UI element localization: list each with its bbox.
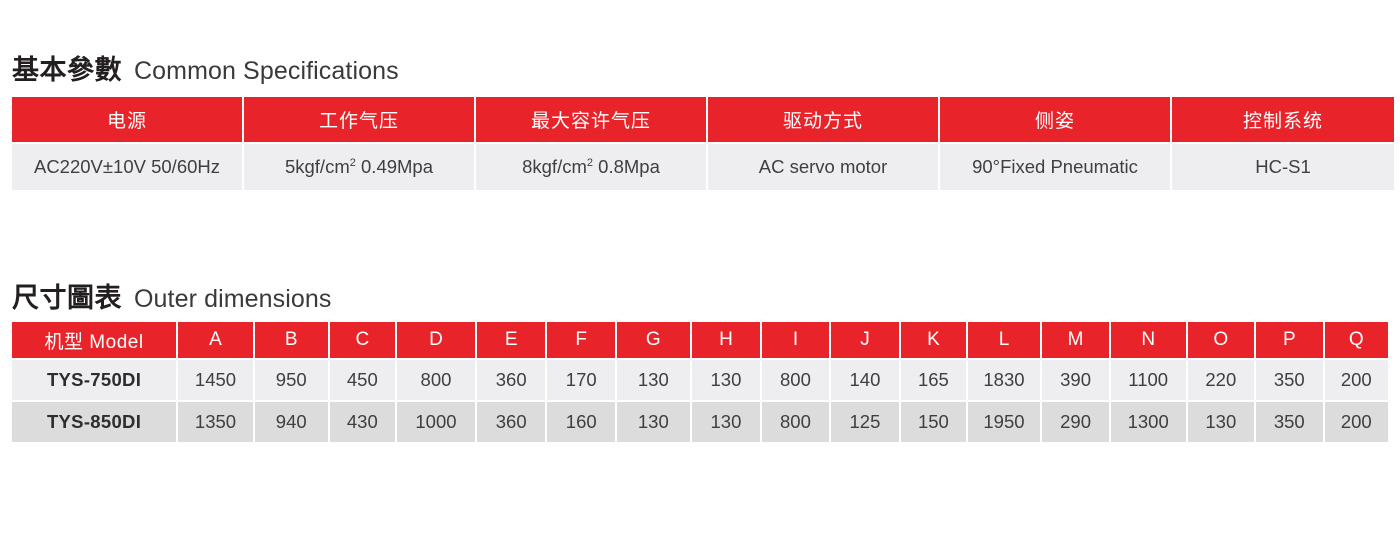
column-header-f: F <box>547 322 615 358</box>
column-header-c: C <box>330 322 395 358</box>
column-header-p: P <box>1256 322 1322 358</box>
value-power-source: AC220V±10V 50/60Hz <box>12 144 242 190</box>
column-header-power-source: 电源 <box>12 97 242 142</box>
dimension-value-d: 800 <box>397 360 475 400</box>
dimension-value-b: 940 <box>255 402 328 442</box>
dimension-value-n: 1300 <box>1111 402 1186 442</box>
dimension-value-g: 130 <box>617 402 690 442</box>
column-header-g: G <box>617 322 690 358</box>
dimension-value-m: 290 <box>1042 402 1108 442</box>
dimension-value-l: 1830 <box>968 360 1041 400</box>
common-specifications-table: 电源 工作气压 最大容许气压 驱动方式 侧姿 控制系统 AC220V±10V 5… <box>10 95 1396 192</box>
section-title-common-specifications: 基本參數 Common Specifications <box>0 48 399 87</box>
dimension-value-f: 160 <box>547 402 615 442</box>
dimension-value-h: 130 <box>692 360 761 400</box>
column-header-model: 机型 Model <box>12 322 176 358</box>
dimension-value-i: 800 <box>762 402 828 442</box>
dimension-value-l: 1950 <box>968 402 1041 442</box>
value-side-posture: 90°Fixed Pneumatic <box>940 144 1170 190</box>
column-header-a: A <box>178 322 253 358</box>
value-text: 90°Fixed Pneumatic <box>972 156 1138 177</box>
dimension-value-k: 165 <box>901 360 965 400</box>
column-header-m: M <box>1042 322 1108 358</box>
value-drive-mode: AC servo motor <box>708 144 938 190</box>
section-title-chinese: 尺寸圖表 <box>12 276 122 315</box>
value-text: HC-S1 <box>1255 156 1311 177</box>
table-row: TYS-850DI 1350 940 430 1000 360 160 130 … <box>12 402 1388 442</box>
dimension-value-h: 130 <box>692 402 761 442</box>
dimension-value-q: 200 <box>1325 402 1388 442</box>
section-title-chinese: 基本參數 <box>12 48 122 87</box>
value-text: 8kgf/cm <box>522 156 587 177</box>
column-header-l: L <box>968 322 1041 358</box>
table-header-row: 电源 工作气压 最大容许气压 驱动方式 侧姿 控制系统 <box>12 97 1394 142</box>
dimension-value-q: 200 <box>1325 360 1388 400</box>
column-header-i: I <box>762 322 828 358</box>
dimension-value-p: 350 <box>1256 402 1322 442</box>
dimension-value-g: 130 <box>617 360 690 400</box>
section-title-outer-dimensions: 尺寸圖表 Outer dimensions <box>0 276 332 315</box>
value-text: AC220V±10V 50/60Hz <box>34 156 220 177</box>
column-header-k: K <box>901 322 965 358</box>
table-row: AC220V±10V 50/60Hz 5kgf/cm2 0.49Mpa 8kgf… <box>12 144 1394 190</box>
dimension-value-d: 1000 <box>397 402 475 442</box>
dimension-value-k: 150 <box>901 402 965 442</box>
value-max-pressure: 8kgf/cm2 0.8Mpa <box>476 144 706 190</box>
dimension-value-c: 450 <box>330 360 395 400</box>
specifications-page: 基本參數 Common Specifications 电源 工作气压 最大容许气… <box>0 0 1400 543</box>
dimension-value-e: 360 <box>477 402 546 442</box>
section-title-english: Common Specifications <box>134 57 399 86</box>
column-header-max-pressure: 最大容许气压 <box>476 97 706 142</box>
value-text-post: 0.49Mpa <box>356 156 433 177</box>
column-header-working-pressure: 工作气压 <box>244 97 474 142</box>
column-header-j: J <box>831 322 900 358</box>
dimension-value-b: 950 <box>255 360 328 400</box>
model-name: TYS-850DI <box>12 402 176 442</box>
dimension-value-a: 1450 <box>178 360 253 400</box>
column-header-drive-mode: 驱动方式 <box>708 97 938 142</box>
dimension-value-o: 220 <box>1188 360 1254 400</box>
value-text: 5kgf/cm <box>285 156 350 177</box>
value-control-system: HC-S1 <box>1172 144 1394 190</box>
column-header-h: H <box>692 322 761 358</box>
dimension-value-f: 170 <box>547 360 615 400</box>
value-text: AC servo motor <box>759 156 888 177</box>
column-header-q: Q <box>1325 322 1388 358</box>
dimension-value-j: 140 <box>831 360 900 400</box>
section-title-english: Outer dimensions <box>134 285 332 314</box>
dimension-value-e: 360 <box>477 360 546 400</box>
column-header-n: N <box>1111 322 1186 358</box>
value-working-pressure: 5kgf/cm2 0.49Mpa <box>244 144 474 190</box>
dimension-value-a: 1350 <box>178 402 253 442</box>
column-header-d: D <box>397 322 475 358</box>
dimension-value-j: 125 <box>831 402 900 442</box>
dimension-value-n: 1100 <box>1111 360 1186 400</box>
dimension-value-p: 350 <box>1256 360 1322 400</box>
dimension-value-m: 390 <box>1042 360 1108 400</box>
column-header-control-system: 控制系统 <box>1172 97 1394 142</box>
column-header-o: O <box>1188 322 1254 358</box>
dimension-value-i: 800 <box>762 360 828 400</box>
dimension-value-o: 130 <box>1188 402 1254 442</box>
column-header-side-posture: 侧姿 <box>940 97 1170 142</box>
column-header-e: E <box>477 322 546 358</box>
value-text-post: 0.8Mpa <box>593 156 660 177</box>
column-header-b: B <box>255 322 328 358</box>
dimension-value-c: 430 <box>330 402 395 442</box>
table-header-row: 机型 Model A B C D E F G H I J K L M N O P… <box>12 322 1388 358</box>
model-name: TYS-750DI <box>12 360 176 400</box>
outer-dimensions-table: 机型 Model A B C D E F G H I J K L M N O P… <box>10 320 1390 444</box>
table-row: TYS-750DI 1450 950 450 800 360 170 130 1… <box>12 360 1388 400</box>
